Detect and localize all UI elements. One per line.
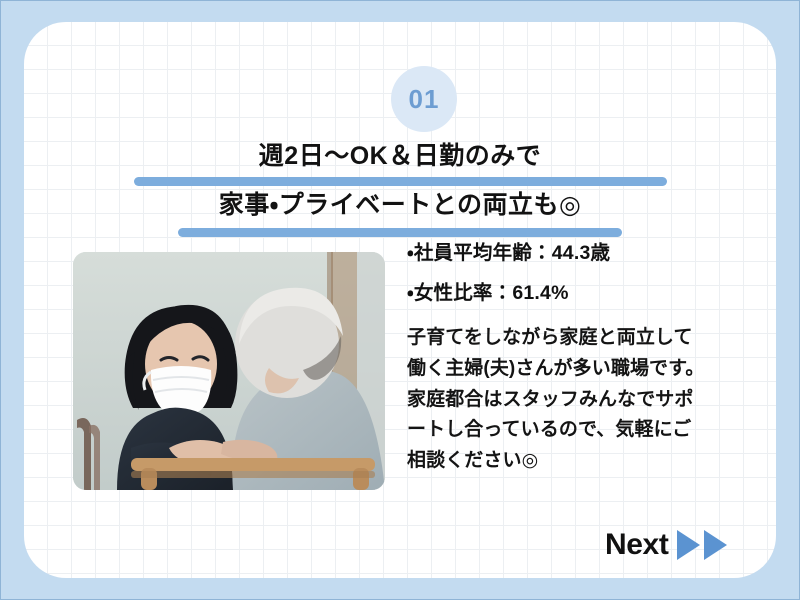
- headline-primary: 週2日〜OK＆日勤のみで: [24, 144, 776, 169]
- next-arrows: [677, 530, 727, 560]
- headline-secondary-text: 家事・プライベートとの両立も◎: [219, 191, 582, 219]
- stat-female-ratio: ・女性比率：61.4%: [407, 284, 727, 304]
- headline-secondary: 家事・プライベートとの両立も◎: [24, 193, 776, 218]
- step-number-badge: 01: [391, 66, 457, 132]
- info-column: ・社員平均年齢：44.3歳 ・女性比率：61.4% 子育てをしながら家庭と両立し…: [407, 244, 727, 477]
- headline-underline-bar-2: [178, 228, 622, 237]
- headline-primary-text: 週2日〜OK＆日勤のみで: [259, 142, 541, 170]
- description-paragraph: 子育てをしながら家庭と両立して働く主婦(夫)さんが多い職場です。家庭都合はスタッ…: [407, 323, 707, 477]
- caregiver-photo: [73, 252, 385, 490]
- caregiver-photo-illustration: [73, 252, 385, 490]
- triangle-right-icon-1: [677, 530, 700, 560]
- next-button[interactable]: Next: [605, 530, 727, 560]
- headline-group: 週2日〜OK＆日勤のみで 家事・プライベートとの両立も◎: [24, 144, 776, 218]
- step-number-label: 01: [409, 86, 440, 112]
- slide-card: 01 週2日〜OK＆日勤のみで 家事・プライベートとの両立も◎: [24, 22, 776, 578]
- stat-average-age: ・社員平均年齢：44.3歳: [407, 244, 727, 264]
- next-button-label: Next: [605, 530, 668, 560]
- headline-underline-bar-1: [134, 177, 667, 186]
- triangle-right-icon-2: [704, 530, 727, 560]
- slide-root: 01 週2日〜OK＆日勤のみで 家事・プライベートとの両立も◎: [0, 0, 800, 600]
